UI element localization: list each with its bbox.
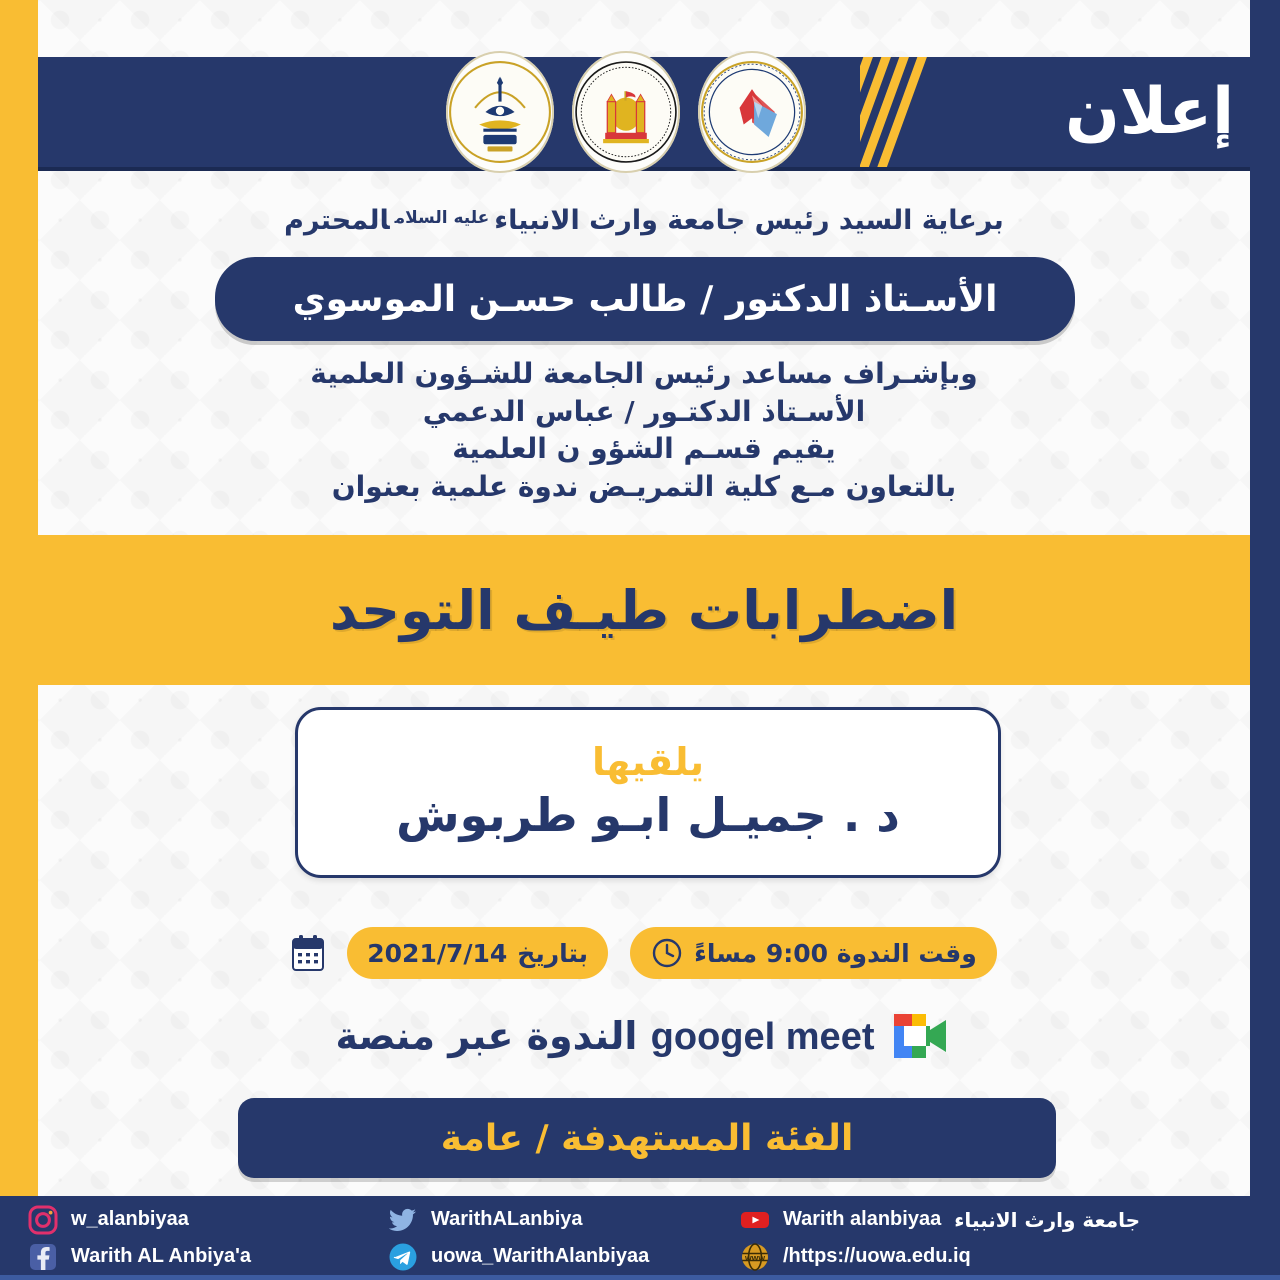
facebook-handle[interactable]: Warith AL Anbiya'a xyxy=(71,1245,251,1268)
telegram-row[interactable]: uowa_WarithAlanbiyaa xyxy=(388,1243,740,1271)
ministry-higher-education-logo xyxy=(698,51,806,173)
patronage-text: برعاية السيد رئيس جامعة وارث الانبياء xyxy=(494,205,1004,236)
seminar-title: اضطرابات طيـف التوحد xyxy=(330,579,958,642)
right-navy-edge-strip xyxy=(1250,0,1280,1196)
seminar-title-banner: اضطرابات طيـف التوحد xyxy=(38,535,1250,685)
website-row[interactable]: www /https://uowa.edu.iq xyxy=(740,1243,971,1271)
organizer-line-3: يقيم قسـم الشؤو ن العلمية xyxy=(38,430,1250,468)
twitter-row[interactable]: WarithALanbiya xyxy=(388,1206,740,1234)
instagram-handle[interactable]: w_alanbiyaa xyxy=(71,1208,189,1231)
time-text: وقت الندوة 9:00 مساءً xyxy=(694,939,977,968)
instagram-icon[interactable] xyxy=(28,1205,58,1235)
facebook-icon[interactable] xyxy=(28,1242,58,1272)
al-abbas-holy-shrine-logo xyxy=(572,51,680,173)
university-name-arabic: جامعة وارث الانبياء xyxy=(954,1208,1140,1232)
footer-column-instagram-facebook: w_alanbiyaa Warith AL Anbiya'a xyxy=(28,1206,388,1271)
announcement-title: إعلان xyxy=(994,57,1234,167)
organizer-line-4: بالتعاون مـع كلية التمريـض ندوة علمية بع… xyxy=(38,468,1250,506)
patronage-line: برعاية السيد رئيس جامعة وارث الانبياءعلي… xyxy=(38,205,1250,236)
footer-column-youtube-website: Warith alanbiyaa جامعة وارث الانبياء www… xyxy=(740,1206,1280,1271)
clock-icon xyxy=(650,936,684,970)
patron-name-pill: الأسـتاذ الدكتور / طالب حسـن الموسوي xyxy=(215,257,1075,341)
date-label: بتاريخ xyxy=(517,939,588,968)
left-gold-edge-strip xyxy=(0,0,38,1196)
youtube-row[interactable]: Warith alanbiyaa جامعة وارث الانبياء xyxy=(740,1206,1140,1234)
speaker-box: يلقيها د . جميـل ابـو طربوش xyxy=(295,707,1001,878)
date-time-row: وقت الندوة 9:00 مساءً بتاريخ 2021/7/14 xyxy=(38,925,1250,981)
date-pill: بتاريخ 2021/7/14 xyxy=(347,927,608,979)
time-pill: وقت الندوة 9:00 مساءً xyxy=(630,927,997,979)
social-footer: w_alanbiyaa Warith AL Anbiya'a xyxy=(0,1196,1280,1280)
target-audience-text: الفئة المستهدفة / عامة xyxy=(441,1118,854,1159)
patronage-suffix: المحترم xyxy=(284,205,389,236)
facebook-row[interactable]: Warith AL Anbiya'a xyxy=(28,1243,388,1271)
date-value: 2021/7/14 xyxy=(367,939,507,968)
patron-name: الأسـتاذ الدكتور / طالب حسـن الموسوي xyxy=(293,279,998,320)
platform-row: googel meet الندوة عبر منصة xyxy=(38,1005,1250,1067)
speaker-label: يلقيها xyxy=(592,742,704,784)
organizer-line-1: وبإشـراف مساعد رئيس الجامعة للشـؤون العل… xyxy=(38,355,1250,393)
website-url[interactable]: /https://uowa.edu.iq xyxy=(783,1245,971,1268)
organizer-line-2: الأسـتاذ الدكتـور / عباس الدعمي xyxy=(38,393,1250,431)
footer-column-twitter-telegram: WarithALanbiya uowa_WarithAlanbiyaa xyxy=(388,1206,740,1271)
platform-text: googel meet الندوة عبر منصة xyxy=(336,1014,875,1059)
platform-brand: googel meet xyxy=(651,1016,875,1058)
organizer-lines: وبإشـراف مساعد رئيس الجامعة للشـؤون العل… xyxy=(38,355,1250,505)
google-meet-icon xyxy=(888,1010,952,1062)
honorific-text: عليه السلام xyxy=(395,208,490,228)
gold-diagonal-stripes xyxy=(860,57,980,167)
website-icon[interactable]: www xyxy=(740,1242,770,1272)
logo-group xyxy=(446,48,806,176)
platform-prefix: الندوة عبر منصة xyxy=(336,1014,638,1058)
target-audience-banner: الفئة المستهدفة / عامة xyxy=(238,1098,1056,1178)
telegram-handle[interactable]: uowa_WarithAlanbiyaa xyxy=(431,1245,649,1268)
twitter-icon[interactable] xyxy=(388,1205,418,1235)
youtube-handle[interactable]: Warith alanbiyaa xyxy=(783,1208,941,1231)
calendar-icon xyxy=(291,934,325,972)
speaker-name: د . جميـل ابـو طربوش xyxy=(396,788,900,843)
university-warith-alanbiyaa-logo xyxy=(446,51,554,173)
instagram-row[interactable]: w_alanbiyaa xyxy=(28,1206,388,1234)
youtube-icon[interactable] xyxy=(740,1205,770,1235)
announcement-poster: إعلان xyxy=(0,0,1280,1280)
svg-text:www: www xyxy=(744,1252,765,1262)
twitter-handle[interactable]: WarithALanbiya xyxy=(431,1208,583,1231)
telegram-icon[interactable] xyxy=(388,1242,418,1272)
